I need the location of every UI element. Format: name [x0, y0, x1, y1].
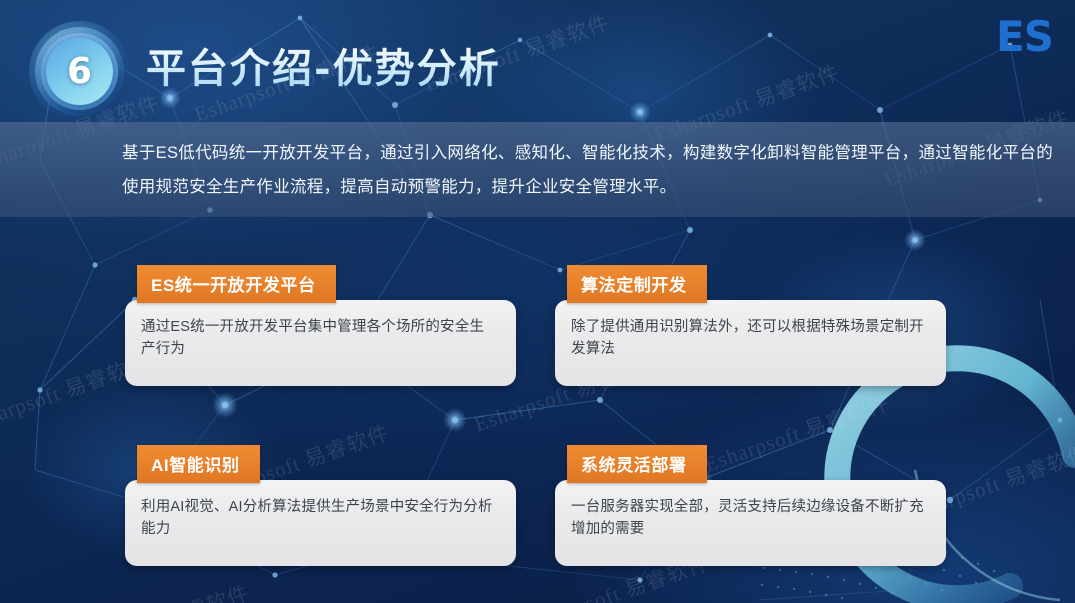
page-title: 平台介绍-优势分析: [146, 36, 501, 94]
summary-banner: 基于ES低代码统一开放开发平台，通过引入网络化、感知化、智能化技术，构建数字化卸…: [0, 122, 1075, 217]
feature-card-2-title: 算法定制开发: [567, 265, 707, 303]
feature-card-2[interactable]: 算法定制开发 除了提供通用识别算法外，还可以根据特殊场景定制开发算法: [555, 265, 946, 386]
feature-card-4[interactable]: 系统灵活部署 一台服务器实现全部，灵活支持后续边缘设备不断扩充增加的需要: [555, 445, 946, 566]
feature-card-4-body: 一台服务器实现全部，灵活支持后续边缘设备不断扩充增加的需要: [555, 480, 946, 566]
feature-card-3-text: 利用AI视觉、AI分析算法提供生产场景中安全行为分析能力: [141, 496, 498, 540]
feature-card-3-title: AI智能识别: [137, 445, 260, 483]
slide-header: 6 平台介绍-优势分析 ES: [0, 0, 1075, 122]
feature-card-4-text: 一台服务器实现全部，灵活支持后续边缘设备不断扩充增加的需要: [571, 496, 928, 540]
feature-card-2-body: 除了提供通用识别算法外，还可以根据特殊场景定制开发算法: [555, 300, 946, 386]
slide-root: Esharpsoft 易睿软件 Esharpsoft 易睿软件 Esharpso…: [0, 0, 1075, 603]
feature-card-3-body: 利用AI视觉、AI分析算法提供生产场景中安全行为分析能力: [125, 480, 516, 566]
feature-card-2-text: 除了提供通用识别算法外，还可以根据特殊场景定制开发算法: [571, 316, 928, 360]
es-logo: ES: [996, 12, 1053, 61]
slide-number: 6: [67, 54, 92, 90]
feature-card-3[interactable]: AI智能识别 利用AI视觉、AI分析算法提供生产场景中安全行为分析能力: [125, 445, 516, 566]
feature-card-1-text: 通过ES统一开放开发平台集中管理各个场所的安全生产行为: [141, 316, 498, 360]
feature-card-1[interactable]: ES统一开放开发平台 通过ES统一开放开发平台集中管理各个场所的安全生产行为: [125, 265, 516, 386]
summary-text: 基于ES低代码统一开放开发平台，通过引入网络化、感知化、智能化技术，构建数字化卸…: [0, 136, 1075, 204]
feature-card-1-title: ES统一开放开发平台: [137, 265, 336, 303]
feature-card-1-body: 通过ES统一开放开发平台集中管理各个场所的安全生产行为: [125, 300, 516, 386]
watermark: Esharpsoft 易睿软件: [60, 577, 253, 603]
slide-number-badge: 6: [29, 21, 130, 122]
badge-core: 6: [46, 38, 113, 105]
feature-card-4-title: 系统灵活部署: [567, 445, 707, 483]
